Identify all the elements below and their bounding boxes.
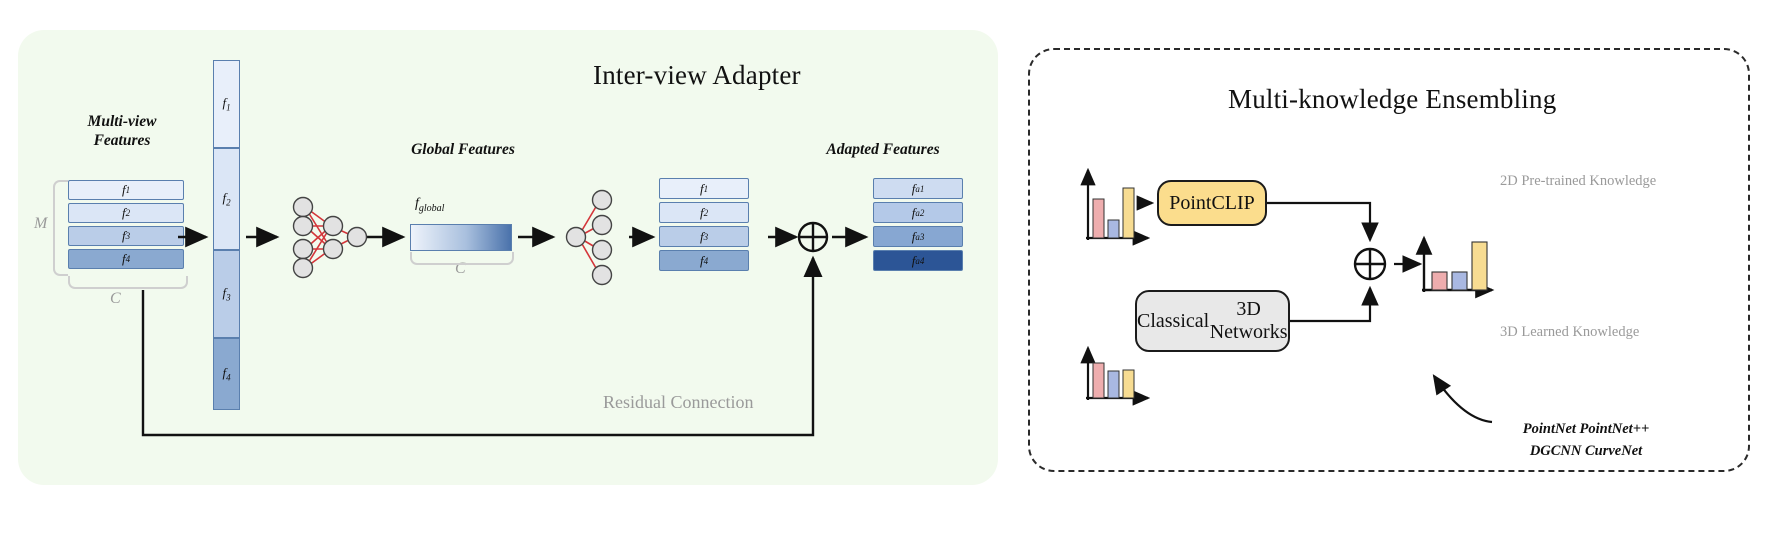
concat-segment-3: f3 <box>213 250 240 338</box>
decoded-feature-stack: f1f2f3f4 <box>659 178 749 274</box>
decoded-feature-4: f4 <box>659 250 749 271</box>
concat-segment-4: f4 <box>213 338 240 410</box>
adapted-feature-stack: fa1fa2fa3fa4 <box>873 178 963 274</box>
adapted-feature-3: fa3 <box>873 226 963 247</box>
box-classical-3d-networks[interactable]: Classical 3D Networks <box>1135 290 1290 352</box>
brace-m <box>53 180 68 276</box>
decoded-feature-3: f3 <box>659 226 749 247</box>
decoded-feature-1: f1 <box>659 178 749 199</box>
global-feature-label: fglobal <box>415 196 444 214</box>
page-title-inter-view-adapter: Inter-view Adapter <box>593 60 801 91</box>
network-names-line2: DGCNN CurveNet <box>1530 443 1642 459</box>
page-title-multi-knowledge-ensembling: Multi-knowledge Ensembling <box>1228 84 1556 115</box>
multi-view-feature-3: f3 <box>68 226 184 246</box>
network-names-line1: PointNet PointNet++ <box>1523 421 1649 437</box>
label-3d-learned-knowledge: 3D Learned Knowledge <box>1500 324 1639 341</box>
multi-view-feature-4: f4 <box>68 249 184 269</box>
adapted-feature-4: fa4 <box>873 250 963 271</box>
label-2d-pretrained-knowledge: 2D Pre-trained Knowledge <box>1500 173 1656 190</box>
concat-segment-2: f2 <box>213 148 240 250</box>
brace-c <box>68 276 188 289</box>
adapted-feature-1: fa1 <box>873 178 963 199</box>
decoded-feature-2: f2 <box>659 202 749 223</box>
box-3d-line2: 3D Networks <box>1209 298 1288 344</box>
adapted-feature-2: fa2 <box>873 202 963 223</box>
label-residual-connection: Residual Connection <box>603 392 753 413</box>
concatenated-feature-column: f1f2f3f4 <box>213 60 240 410</box>
caption-adapted-features: Adapted Features <box>808 140 958 159</box>
caption-global-features: Global Features <box>388 140 538 159</box>
label-m: M <box>34 215 47 233</box>
box-3d-line1: Classical <box>1137 310 1209 333</box>
multi-view-feature-stack: f1f2f3f4 <box>68 180 184 272</box>
multi-view-feature-2: f2 <box>68 203 184 223</box>
label-network-names: PointNet PointNet++ DGCNN CurveNet <box>1496 418 1676 462</box>
multi-view-feature-1: f1 <box>68 180 184 200</box>
caption-multi-view-features: Multi-viewFeatures <box>62 112 182 150</box>
label-c: C <box>110 290 121 308</box>
brace-c-global <box>410 252 514 265</box>
concat-segment-1: f1 <box>213 60 240 148</box>
box-pointclip[interactable]: PointCLIP <box>1157 180 1267 226</box>
global-feature-bar <box>410 224 512 251</box>
